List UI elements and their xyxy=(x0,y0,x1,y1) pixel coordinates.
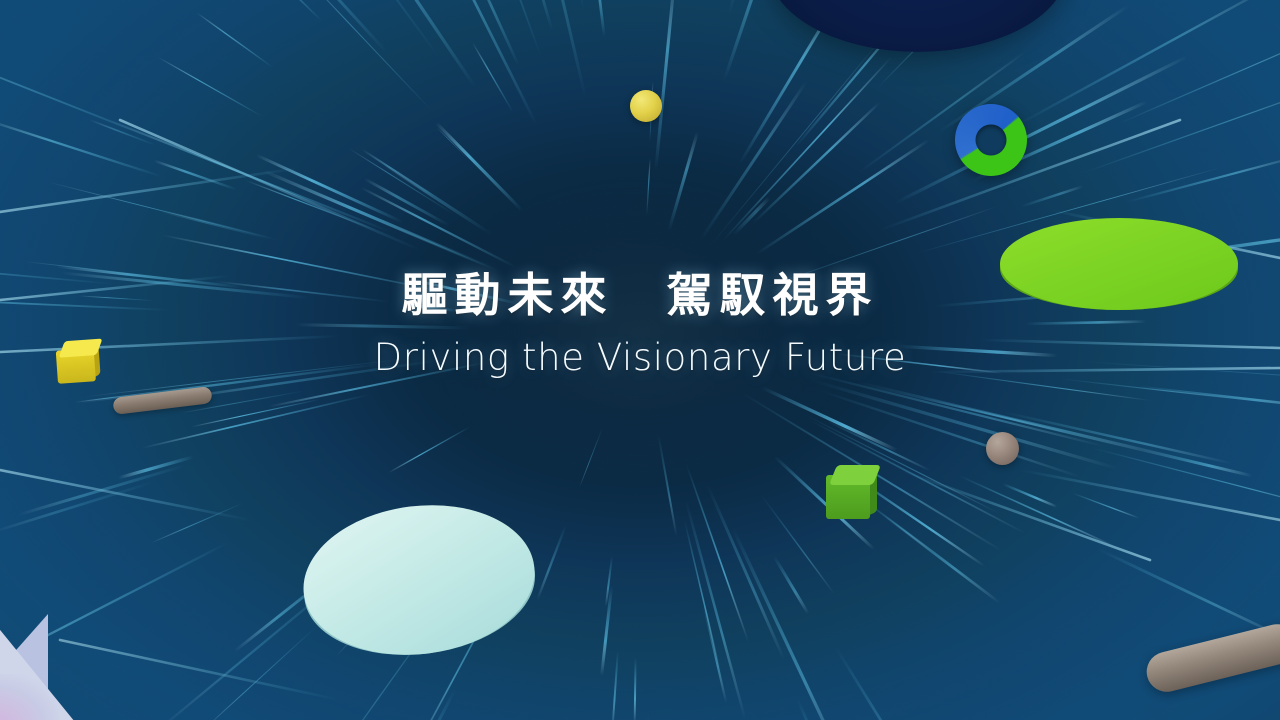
cyan-disc-top xyxy=(295,492,543,667)
title-card-scene: 驅動未來 駕馭視界 Driving the Visionary Future xyxy=(0,0,1280,720)
lavender-pyramid-shape xyxy=(0,614,140,720)
pyramid-glow xyxy=(0,674,60,720)
subtitle-english: Driving the Visionary Future xyxy=(0,336,1280,379)
green-cube-top-face xyxy=(829,465,881,485)
brown-sphere-shape xyxy=(986,432,1019,465)
yellow-sphere-shape xyxy=(630,90,662,122)
cyan-disc-shape xyxy=(295,492,543,667)
headline-chinese: 驅動未來 駕馭視界 xyxy=(0,268,1280,322)
green-blue-donut-shape xyxy=(955,104,1027,176)
title-block: 驅動未來 駕馭視界 Driving the Visionary Future xyxy=(0,268,1280,379)
green-cube-shape xyxy=(824,465,880,521)
